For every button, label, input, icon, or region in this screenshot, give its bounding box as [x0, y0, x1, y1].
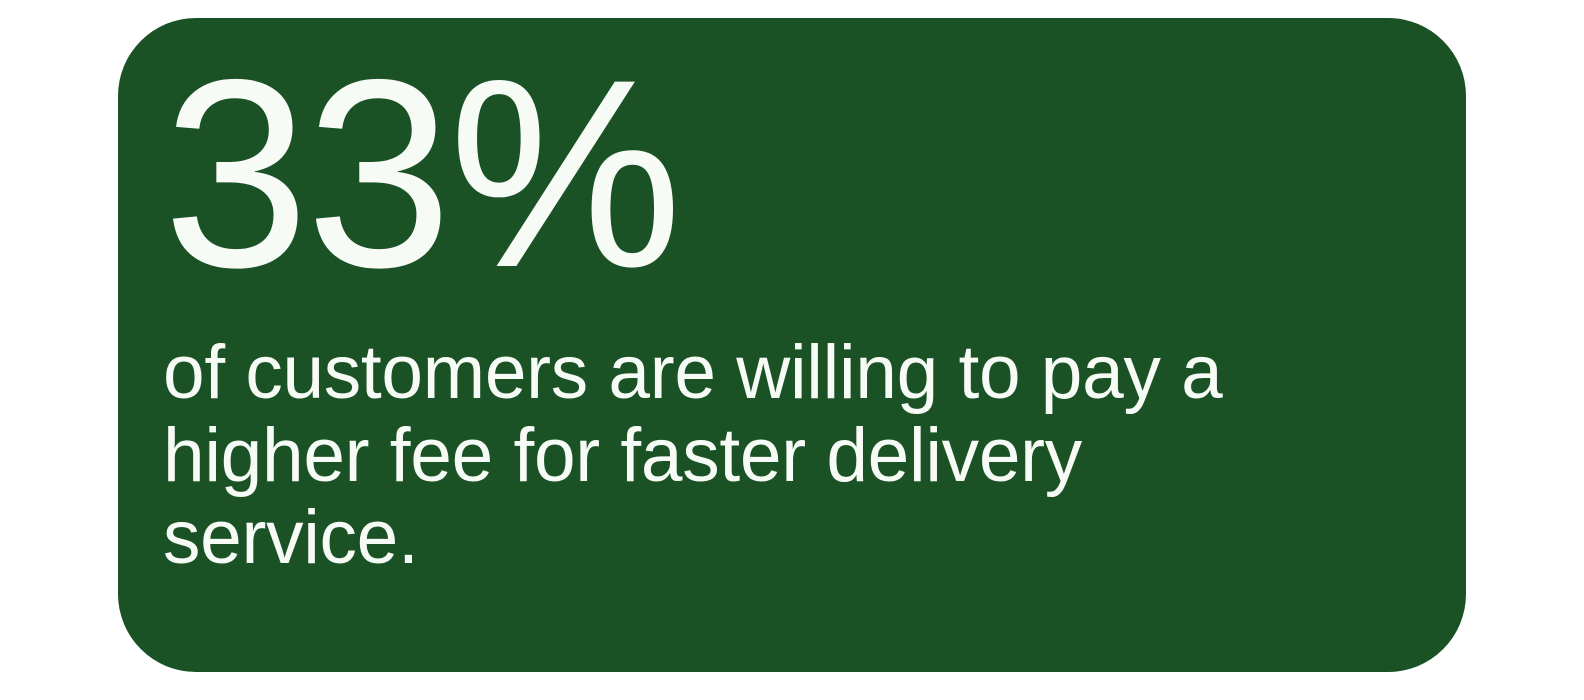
stat-highlight-card: 33% of customers are willing to pay a hi… [118, 18, 1466, 672]
stat-callout-canvas: 33% of customers are willing to pay a hi… [0, 0, 1584, 700]
stat-description-text: of customers are willing to pay a higher… [163, 288, 1237, 578]
stat-percentage-value: 33% [163, 58, 1401, 288]
stat-card-content: 33% of customers are willing to pay a hi… [163, 58, 1426, 579]
